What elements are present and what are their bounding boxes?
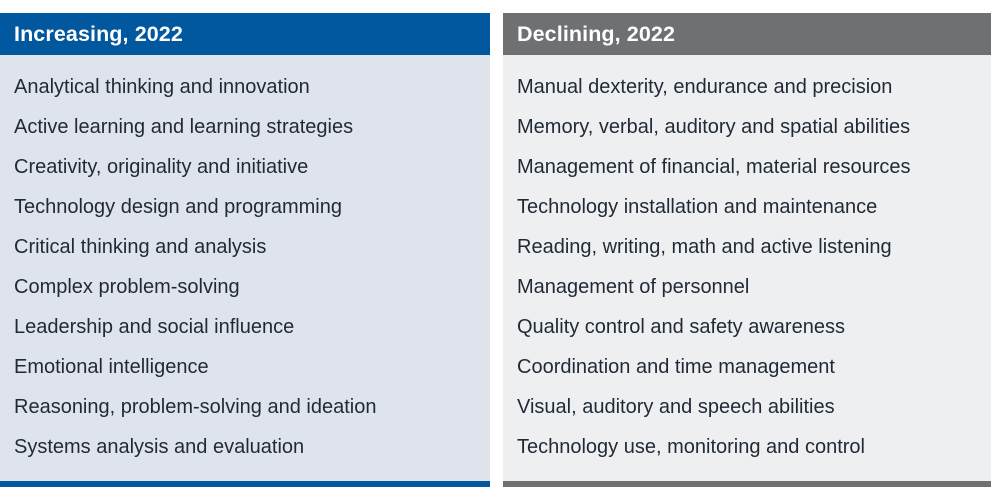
list-item: Complex problem-solving — [0, 267, 490, 307]
panel-increasing-footer-rule — [0, 481, 490, 487]
panel-declining-footer-rule — [503, 481, 991, 487]
list-item: Creativity, originality and initiative — [0, 147, 490, 187]
list-item: Emotional intelligence — [0, 347, 490, 387]
list-item: Management of personnel — [503, 267, 991, 307]
panel-declining-header: Declining, 2022 — [503, 13, 991, 55]
list-item: Quality control and safety awareness — [503, 307, 991, 347]
list-item: Leadership and social influence — [0, 307, 490, 347]
list-item: Reading, writing, math and active listen… — [503, 227, 991, 267]
list-item: Management of financial, material resour… — [503, 147, 991, 187]
list-item: Coordination and time management — [503, 347, 991, 387]
panel-declining: Declining, 2022 Manual dexterity, endura… — [503, 13, 991, 487]
panel-increasing-header: Increasing, 2022 — [0, 13, 490, 55]
list-item: Systems analysis and evaluation — [0, 427, 490, 467]
panel-declining-list: Manual dexterity, endurance and precisio… — [503, 55, 991, 481]
skills-comparison-board: Increasing, 2022 Analytical thinking and… — [0, 0, 1004, 479]
list-item: Memory, verbal, auditory and spatial abi… — [503, 107, 991, 147]
panel-increasing: Increasing, 2022 Analytical thinking and… — [0, 13, 490, 487]
list-item: Visual, auditory and speech abilities — [503, 387, 991, 427]
list-item: Technology design and programming — [0, 187, 490, 227]
list-item: Critical thinking and analysis — [0, 227, 490, 267]
list-item: Technology use, monitoring and control — [503, 427, 991, 467]
list-item: Reasoning, problem-solving and ideation — [0, 387, 490, 427]
list-item: Active learning and learning strategies — [0, 107, 490, 147]
panel-increasing-list: Analytical thinking and innovation Activ… — [0, 55, 490, 481]
list-item: Manual dexterity, endurance and precisio… — [503, 67, 991, 107]
list-item: Analytical thinking and innovation — [0, 67, 490, 107]
list-item: Technology installation and maintenance — [503, 187, 991, 227]
